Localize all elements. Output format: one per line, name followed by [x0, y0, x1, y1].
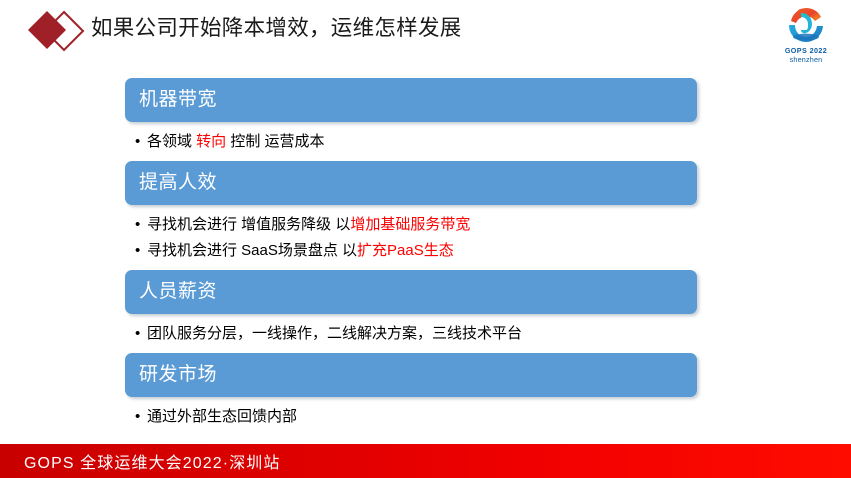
bullet-part-highlight: 扩充PaaS生态 [357, 242, 454, 259]
list-item: •寻找机会进行 增值服务降级 以增加基础服务带宽 [125, 212, 697, 238]
footer-text: GOPS 全球运维大会2022·深圳站 [0, 449, 281, 473]
section-block: 人员薪资 •团队服务分层，一线操作，二线解决方案，三线技术平台 [125, 270, 697, 353]
section-bullets: •各领域 转向 控制 运营成本 [125, 122, 697, 161]
section-header-bar: 提高人效 [125, 161, 697, 205]
bullet-dot-icon: • [135, 238, 140, 264]
section-heading: 提高人效 [125, 171, 217, 195]
section-bullets: •通过外部生态回馈内部 [125, 397, 697, 436]
bullet-part: 各领域 [147, 133, 196, 150]
list-item: •通过外部生态回馈内部 [125, 404, 697, 430]
section-block: 机器带宽 •各领域 转向 控制 运营成本 [125, 78, 697, 161]
bullet-part-highlight: 增加基础服务带宽 [350, 216, 470, 233]
gops-logo: GOPS 2022 shenzhen [775, 3, 837, 65]
bullet-dot-icon: • [135, 129, 140, 155]
bullet-part: 控制 运营成本 [226, 133, 324, 150]
list-item: •团队服务分层，一线操作，二线解决方案，三线技术平台 [125, 321, 697, 347]
logo-line-1: GOPS 2022 [775, 46, 837, 55]
section-heading: 机器带宽 [125, 88, 217, 112]
page-title: 如果公司开始降本增效，运维怎样发展 [91, 13, 462, 43]
section-heading: 人员薪资 [125, 280, 217, 304]
bullet-part-highlight: 转向 [196, 133, 226, 150]
list-item: •寻找机会进行 SaaS场景盘点 以扩充PaaS生态 [125, 238, 697, 264]
content-blocks: 机器带宽 •各领域 转向 控制 运营成本 提高人效 •寻找机会进行 增值服务降级… [125, 78, 697, 436]
bullet-part: 寻找机会进行 SaaS场景盘点 以 [147, 242, 357, 259]
bullet-part: 寻找机会进行 增值服务降级 以 [147, 216, 350, 233]
logo-line-2: shenzhen [775, 55, 837, 64]
section-heading: 研发市场 [125, 363, 217, 387]
section-header-bar: 研发市场 [125, 353, 697, 397]
slide-canvas: 如果公司开始降本增效，运维怎样发展 [0, 0, 851, 478]
bullet-part: 通过外部生态回馈内部 [147, 408, 297, 425]
section-bullets: •团队服务分层，一线操作，二线解决方案，三线技术平台 [125, 314, 697, 353]
list-item: •各领域 转向 控制 运营成本 [125, 129, 697, 155]
section-block: 研发市场 •通过外部生态回馈内部 [125, 353, 697, 436]
section-header-bar: 机器带宽 [125, 78, 697, 122]
gops-swirl-logo-icon [784, 3, 828, 45]
bullet-part: 团队服务分层，一线操作，二线解决方案，三线技术平台 [147, 325, 522, 342]
bullet-dot-icon: • [135, 212, 140, 238]
section-bullets: •寻找机会进行 增值服务降级 以增加基础服务带宽 •寻找机会进行 SaaS场景盘… [125, 205, 697, 270]
section-block: 提高人效 •寻找机会进行 增值服务降级 以增加基础服务带宽 •寻找机会进行 Sa… [125, 161, 697, 270]
bullet-dot-icon: • [135, 321, 140, 347]
slide-footer: GOPS 全球运维大会2022·深圳站 [0, 444, 851, 478]
section-header-bar: 人员薪资 [125, 270, 697, 314]
diamond-marker-icon [26, 9, 86, 53]
bullet-dot-icon: • [135, 404, 140, 430]
slide-header: 如果公司开始降本增效，运维怎样发展 [0, 0, 851, 62]
